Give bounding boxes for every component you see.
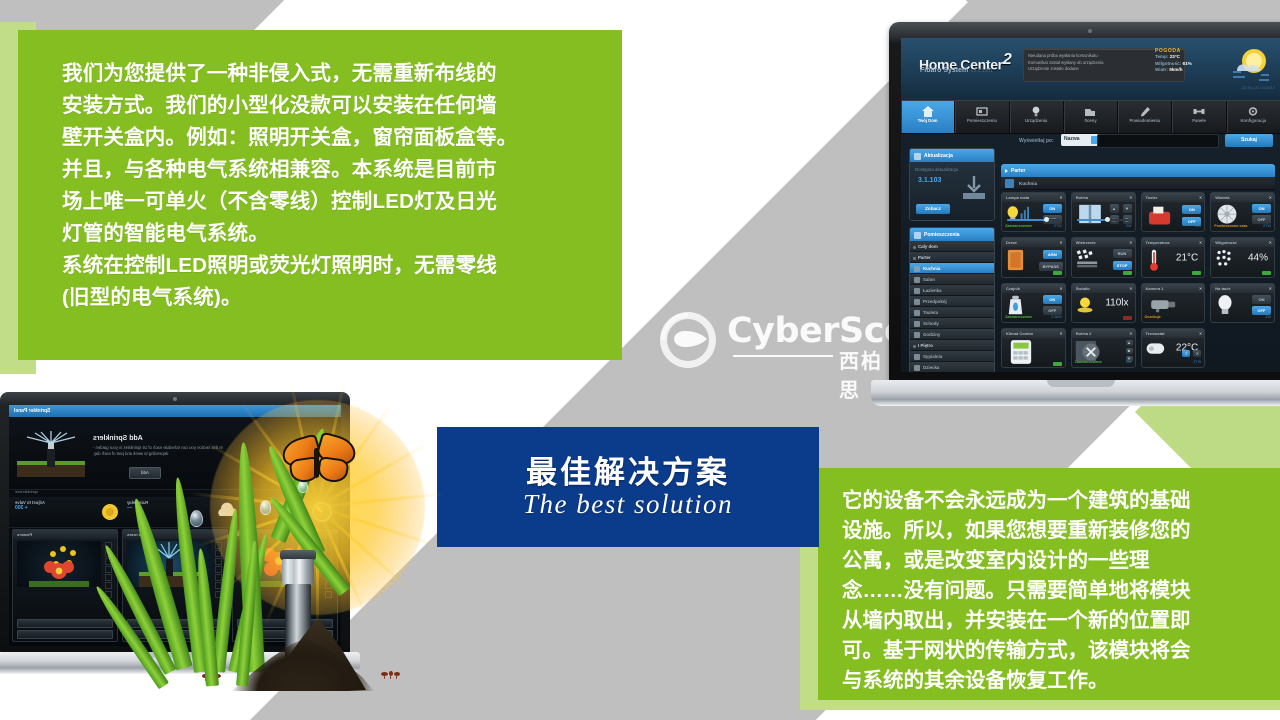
device-name: Drzwi — [1006, 240, 1017, 245]
device-tile[interactable]: Roleta 2✕ ▲ ■ ▼ ZaawansowaneZW — [1071, 328, 1136, 368]
battery-icon — [1192, 271, 1201, 275]
device-tile[interactable]: Wilgotność✕ 44% — [1210, 237, 1275, 277]
device-title: Wiatrak✕ — [1211, 193, 1274, 202]
hc-room-item[interactable]: I Piętro — [910, 340, 994, 351]
hc-section-bar[interactable]: Parter — [1001, 164, 1275, 177]
bullet-icon — [913, 246, 916, 249]
device-name: Wiatrak — [1215, 195, 1229, 200]
left-callout-line: (旧型的电气系统)。 — [62, 282, 590, 314]
sprinkler-card[interactable]: Flowers — [12, 529, 118, 642]
hc-nav-item-scenes[interactable]: Sceny — [1064, 101, 1118, 133]
hc-weather-value: 61% — [1183, 61, 1192, 66]
hc-weather-panel: POGODA Temp: 23°C Wilgotność: 61% Wiatr:… — [1155, 48, 1217, 74]
device-status: Zaawansowane — [1075, 360, 1102, 364]
device-body — [1002, 338, 1065, 359]
laptop-lid: Home Center2 Fibaro System v3.1.1001 Nie… — [889, 22, 1280, 382]
device-slider[interactable] — [1077, 217, 1130, 221]
hc-logo-sup: 2 — [1003, 51, 1012, 68]
hc-room-item[interactable]: Cały dom — [910, 241, 994, 252]
butterfly — [278, 432, 356, 492]
kitchen-icon — [914, 266, 920, 272]
device-tile[interactable]: Wietrzenie✕ RUN STOP — [1071, 237, 1136, 277]
control-value: + 300 — [15, 505, 99, 511]
ant — [378, 670, 400, 679]
laptop-home-center: Home Center2 Fibaro System v3.1.1001 Nie… — [871, 22, 1280, 422]
device-run-button[interactable]: RUN — [1113, 249, 1132, 258]
blind-up-button[interactable]: ▲ — [1126, 340, 1133, 346]
right-callout-line: 它的设备不会永远成为一个建筑的基础 — [842, 486, 1262, 516]
close-icon[interactable]: ✕ — [1059, 286, 1062, 291]
device-title: Wietrzenie✕ — [1072, 238, 1135, 247]
hc-filter-select[interactable]: Nazwa — [1061, 134, 1101, 146]
hc-room-item[interactable]: Schody — [910, 318, 994, 329]
right-text-callout: 它的设备不会永远成为一个建筑的基础 设施。所以，如果您想要重新装修您的 公寓，或… — [818, 468, 1280, 700]
hc-search-button[interactable]: Szukaj — [1225, 134, 1273, 147]
device-tile[interactable]: Kamera 1✕ Oczekuje — [1141, 283, 1206, 323]
device-title: Temperatura✕ — [1142, 238, 1205, 247]
hc-room-label: Godziny — [923, 332, 940, 337]
device-meta: ZTW — [1193, 360, 1201, 364]
blind-down-button[interactable]: ▼ — [1123, 204, 1132, 213]
device-status: Oczekuje — [1145, 315, 1161, 319]
device-title: Klimat Combo✕ — [1002, 329, 1065, 338]
hc-room-item-active[interactable]: Kuchnia — [910, 263, 994, 274]
watermark-rule — [733, 355, 833, 357]
sprinkler-control-valve[interactable]: Adjust to Valve + 300 — [15, 500, 99, 524]
download-icon — [959, 174, 989, 202]
device-footer: ZW — [1211, 314, 1274, 322]
hc-section-sub[interactable]: Kuchnia — [1001, 177, 1275, 190]
device-name: Na tacie — [1215, 286, 1230, 291]
hc-room-label: Cały dom — [918, 244, 938, 249]
close-icon[interactable]: ✕ — [1129, 286, 1132, 291]
device-name: Wietrzenie — [1076, 240, 1096, 245]
close-icon[interactable]: ✕ — [1059, 240, 1062, 245]
clock-icon — [914, 332, 920, 338]
dew-drop — [260, 500, 271, 515]
hc-weather-row: Wilgotność: 61% — [1155, 61, 1217, 68]
device-title: Na tacie✕ — [1211, 284, 1274, 293]
device-meta: ZTW — [1263, 224, 1271, 228]
device-slider[interactable] — [1007, 217, 1060, 221]
close-icon[interactable]: ✕ — [1129, 331, 1132, 336]
right-callout-line: 设施。所以，如果您想要重新装修您的 — [842, 516, 1262, 546]
hc-room-item[interactable]: Łazienka — [910, 285, 994, 296]
sprinkler-card-image — [17, 541, 101, 587]
right-callout-line: 可。基于网状的传输方式，该模块将会 — [842, 636, 1262, 666]
device-name: Roleta — [1076, 195, 1088, 200]
device-meta: ZTW — [1054, 224, 1062, 228]
camera-icon — [1149, 297, 1179, 313]
device-body: 21°C — [1142, 247, 1205, 268]
device-footer — [1072, 314, 1135, 322]
hc-nav-item-home[interactable]: Twój Dom — [901, 101, 955, 133]
hc-room-item[interactable]: Przedpokój — [910, 296, 994, 307]
vent-icon — [1075, 249, 1101, 269]
right-callout-line: 公寓，或是改变室内设计的一些理 — [842, 546, 1262, 576]
device-body: ARM BYPASS — [1002, 247, 1065, 268]
close-icon[interactable]: ✕ — [1059, 331, 1062, 336]
device-footer: ZaawansowaneZW — [1072, 359, 1135, 367]
device-value: 21°C — [1176, 252, 1198, 263]
hc-nav-item-notifications[interactable]: Powiadomienia — [1118, 101, 1172, 133]
hc-update-body: Dostępna aktualizacja 3.1.103 Zobacz — [910, 162, 994, 220]
hc-header: Home Center2 Fibaro System v3.1.1001 Nie… — [901, 38, 1280, 100]
device-status: Zaawansowane — [1005, 315, 1032, 319]
device-tile[interactable]: Lampa mała✕ ON OFF ZaawansowaneZTW — [1001, 192, 1066, 232]
hc-filter-label: Wyświetlaj po: — [1019, 138, 1054, 144]
device-title: Roleta 2✕ — [1072, 329, 1135, 338]
hc-update-panel: Aktualizacja Dostępna aktualizacja 3.1.1… — [909, 148, 995, 221]
device-tile[interactable]: Termostat✕ 22°C ≡ ✕ ZTW — [1141, 328, 1206, 368]
device-footer: ZW — [1072, 223, 1135, 231]
device-footer: ZTW — [1142, 359, 1205, 367]
hc-room-label: Łazienka — [923, 288, 942, 293]
blind-up-button[interactable]: ▲ — [1110, 204, 1119, 213]
battery-icon — [1123, 316, 1132, 320]
device-tile[interactable]: Na tacie✕ ON OFF ZW — [1210, 283, 1275, 323]
close-icon[interactable]: ✕ — [1059, 195, 1062, 200]
hc-subtitle: Fibaro System — [920, 67, 968, 74]
close-icon[interactable]: ✕ — [1199, 240, 1202, 245]
close-icon[interactable]: ✕ — [1269, 195, 1272, 200]
device-body: 22°C ≡ ✕ — [1142, 338, 1205, 359]
device-title: Czajnik✕ — [1002, 284, 1065, 293]
device-meta: 2.5kW — [1051, 315, 1061, 319]
device-on-button[interactable]: ON — [1182, 205, 1201, 214]
hc-weather-row: Wiatr: 9km/h — [1155, 67, 1217, 74]
device-name: Klimat Combo — [1006, 331, 1033, 336]
butterfly-wing — [316, 456, 349, 484]
battery-icon — [1053, 362, 1062, 366]
device-footer: Zaawansowane2.5kW — [1002, 314, 1065, 322]
close-icon[interactable]: ✕ — [1199, 286, 1202, 291]
device-body: ▲ ▼ ▤ ▥ — [1072, 202, 1135, 223]
close-icon[interactable]: ✕ — [1129, 195, 1132, 200]
device-meta: ZW — [1265, 315, 1271, 319]
device-on-button[interactable]: ON — [1252, 295, 1271, 304]
hc-filter-value: Nazwa — [1064, 136, 1080, 142]
panels-icon — [1192, 105, 1206, 118]
bullet-icon — [913, 257, 916, 260]
device-status: Zaawansowane — [1005, 224, 1032, 228]
device-title: Światło✕ — [1072, 284, 1135, 293]
toilet-icon — [914, 310, 920, 316]
hc-version: v3.1.1001 — [971, 68, 993, 74]
garden-artwork — [150, 380, 480, 710]
bulb-icon — [1029, 105, 1043, 118]
hc-nav-label: Twój Dom — [901, 118, 954, 123]
hc-update-button[interactable]: Zobacz — [916, 204, 950, 214]
hc-nav-item-rooms[interactable]: Pomieszczenia — [955, 101, 1009, 133]
close-icon[interactable]: ✕ — [1269, 240, 1272, 245]
device-footer: ZW — [1142, 223, 1205, 231]
device-tile[interactable]: Czajnik✕ ON OFF Zaawansowane2.5kW — [1001, 283, 1066, 323]
left-callout-line: 我们为您提供了一种非侵入式，无需重新布线的 — [62, 58, 590, 90]
hc-weather-value: 9km/h — [1169, 67, 1182, 72]
device-arm-button[interactable]: ARM — [1043, 250, 1062, 259]
hc-nav-item-devices[interactable]: Urządzenia — [1010, 101, 1064, 133]
right-callout-line: 念……没有问题。只需要简单地将模块 — [842, 576, 1262, 606]
device-value: 44% — [1248, 252, 1268, 263]
device-name: Wilgotność — [1215, 240, 1237, 245]
bullet-icon — [913, 345, 916, 348]
battery-icon — [1123, 271, 1132, 275]
hc-room-label: Salon — [923, 277, 935, 282]
device-name: Toster — [1146, 195, 1158, 200]
hc-weather-label: Wilgotność: — [1155, 61, 1181, 66]
page-title: 最佳解决方案 — [437, 447, 819, 492]
hc-room-label: Parter — [918, 255, 931, 260]
scene-icon — [1083, 105, 1097, 118]
device-name: Temperatura — [1146, 240, 1170, 245]
sun-cloud-icon — [1227, 44, 1273, 86]
left-callout-line: 并且，与各种电气系统相兼容。本系统是目前市 — [62, 154, 590, 186]
hc-rooms-title: Pomieszczenia — [910, 228, 994, 241]
thermostat-mode-button[interactable]: ≡ — [1182, 350, 1190, 357]
hc-weather-row: Temp: 23°C — [1155, 54, 1217, 61]
hc-weather-label: Wiatr: — [1155, 67, 1168, 72]
hc-nav-label: Urządzenia — [1010, 118, 1063, 123]
device-body: ▲ ■ ▼ — [1072, 338, 1135, 359]
device-on-button[interactable]: ON — [1043, 295, 1062, 304]
device-title: Lampa mała✕ — [1002, 193, 1065, 202]
device-footer: Oczekuje — [1142, 314, 1205, 322]
device-tile[interactable]: Klimat Combo✕ — [1001, 328, 1066, 368]
device-title: Toster✕ — [1142, 193, 1205, 202]
device-title: Drzwi✕ — [1002, 238, 1065, 247]
hc-room-label: Kuchnia — [923, 266, 940, 271]
left-callout-line: 场上唯一可单火（不含零线）控制LED灯及日光 — [62, 186, 590, 218]
hc-room-label: Toaleta — [923, 310, 938, 315]
device-footer — [1002, 269, 1065, 277]
hc-room-label: Przedpokój — [923, 299, 947, 304]
device-tile[interactable]: Temperatura✕ 21°C — [1141, 237, 1206, 277]
device-tile[interactable]: Toster✕ ON OFF ZW — [1141, 192, 1206, 232]
device-meta: ZW — [1196, 224, 1202, 228]
sprinkler-card-title: Flowers — [13, 530, 117, 539]
device-tile[interactable]: Roleta✕ ▲ ▼ ▤ ▥ ZW — [1071, 192, 1136, 232]
hc-nav-item-panels[interactable]: Panele — [1172, 101, 1226, 133]
laptop-notch — [1047, 380, 1115, 387]
hc-sidebar: Aktualizacja Dostępna aktualizacja 3.1.1… — [909, 148, 995, 368]
hc-device-grid: Lampa mała✕ ON OFF ZaawansowaneZTW — [1001, 192, 1275, 368]
battery-icon — [1262, 271, 1271, 275]
hc-weather-value: 23°C — [1170, 54, 1180, 59]
hc-room-label: Dziecka — [923, 365, 939, 370]
hc-update-text: Dostępna aktualizacja — [910, 162, 994, 172]
dew-drop — [190, 510, 203, 527]
humidity-icon — [1215, 249, 1233, 269]
right-callout-line: 从墙内取出，并安装在一个新的位置即 — [842, 606, 1262, 636]
sofa-icon — [914, 277, 920, 283]
hc-nav-label: Pomieszczenia — [955, 118, 1008, 123]
hc-nav-item-config[interactable]: Konfiguracja — [1227, 101, 1280, 133]
device-footer — [1211, 269, 1274, 277]
valve-icon — [101, 503, 119, 521]
bed-icon — [914, 354, 920, 360]
device-footer — [1142, 269, 1205, 277]
close-icon[interactable]: ✕ — [1199, 195, 1202, 200]
hall-icon — [914, 299, 920, 305]
hc-room-label: I Piętro — [918, 343, 933, 348]
device-name: Światło — [1076, 286, 1090, 291]
laptop-base — [871, 380, 1280, 406]
device-title: Wilgotność✕ — [1211, 238, 1274, 247]
left-callout-line: 系统在控制LED照明或荧光灯照明时，无需零线 — [62, 250, 590, 282]
device-footer: ZaawansowaneZTW — [1002, 223, 1065, 231]
hc-nav-label: Panele — [1172, 118, 1225, 123]
device-name: Kamera 1 — [1146, 286, 1164, 291]
laptop-screen: Home Center2 Fibaro System v3.1.1001 Nie… — [901, 38, 1280, 372]
thermostat-off-button[interactable]: ✕ — [1193, 350, 1201, 357]
device-body: ON OFF — [1211, 293, 1274, 314]
page-subtitle: The best solution — [437, 489, 819, 520]
device-value: 110lx — [1105, 298, 1128, 309]
hc-room-item[interactable]: Sypialnia — [910, 351, 994, 362]
hc-nav: Twój Dom Pomieszczenia Urządzenia S — [901, 100, 1280, 134]
hc-search-input[interactable] — [1097, 134, 1219, 148]
stairs-icon — [914, 321, 920, 327]
left-callout-line: 壁开关盒内。例如：照明开关盒，窗帘面板盒等。 — [62, 122, 590, 154]
sprinkler-illustration-icon — [17, 431, 85, 477]
sprinkler-card-rows — [17, 617, 113, 639]
device-title: Kamera 1✕ — [1142, 284, 1205, 293]
flower-icon — [17, 541, 101, 587]
watermark: CyberScope 西柏思 — [655, 305, 895, 375]
hc-device-area: Parter Kuchnia Lampa mała✕ ON OFF — [1001, 164, 1275, 368]
blind-stop-button[interactable]: ■ — [1126, 348, 1133, 354]
device-body: ON OFF — [1002, 202, 1065, 223]
device-footer — [1072, 269, 1135, 277]
sprinkler-schedule-row[interactable] — [17, 630, 113, 639]
hc-weather-timestamp: 22:36 | 22.03.2012 — [1242, 85, 1275, 90]
close-icon[interactable]: ✕ — [1199, 331, 1202, 336]
left-callout-line: 安装方式。我们的小型化没款可以安装在任何墙 — [62, 90, 590, 122]
pencil-icon — [1138, 105, 1152, 118]
close-icon[interactable]: ✕ — [1269, 286, 1272, 291]
device-body: 44% — [1211, 247, 1274, 268]
hc-nav-label: Konfiguracja — [1227, 118, 1280, 123]
device-name: Lampa mała — [1006, 195, 1029, 200]
hc-update-title: Aktualizacja — [910, 149, 994, 162]
rooms-icon — [975, 105, 989, 118]
device-on-button[interactable]: ON — [1252, 204, 1271, 213]
right-callout-text: 它的设备不会永远成为一个建筑的基础 设施。所以，如果您想要重新装修您的 公寓，或… — [842, 486, 1262, 696]
device-body: RUN STOP — [1072, 247, 1135, 268]
bath-icon — [914, 288, 920, 294]
hc-rooms-panel: Pomieszczenia Cały dom Parter Kuchnia Sa… — [909, 227, 995, 372]
device-body: 110lx — [1072, 293, 1135, 314]
device-footer: Przekroczono czasZTW — [1211, 223, 1274, 231]
device-meta: ZW — [1126, 360, 1132, 364]
device-tile[interactable]: Drzwi✕ ARM BYPASS — [1001, 237, 1066, 277]
home-center-app: Home Center2 Fibaro System v3.1.1001 Nie… — [901, 38, 1280, 372]
device-name: Termostat — [1146, 331, 1165, 336]
left-callout-text: 我们为您提供了一种非侵入式，无需重新布线的 安装方式。我们的小型化没款可以安装在… — [62, 58, 590, 314]
hc-room-label: Sypialnia — [923, 354, 942, 359]
device-tile[interactable]: Wiatrak✕ ON OFF Przekroczono czasZTW — [1210, 192, 1275, 232]
hc-room-item[interactable]: Godziny — [910, 329, 994, 340]
sprinkler-hero-title: Add Sprinklers — [93, 435, 143, 442]
device-title: Termostat✕ — [1142, 329, 1205, 338]
close-icon[interactable]: ✕ — [1129, 240, 1132, 245]
sprinkler-schedule-row[interactable] — [17, 619, 113, 628]
device-body: ON OFF — [1002, 293, 1065, 314]
webcam-icon — [1088, 29, 1092, 33]
sprinkler-neck — [282, 559, 314, 585]
butterfly-body — [314, 448, 319, 478]
bulb-icon — [1216, 294, 1234, 316]
device-title: Roleta✕ — [1072, 193, 1135, 202]
title-callout: 最佳解决方案 The best solution — [437, 427, 819, 547]
gear-icon — [1246, 105, 1260, 118]
device-body: ON OFF — [1142, 202, 1205, 223]
device-name: Roleta 2 — [1076, 331, 1092, 336]
left-text-callout: 我们为您提供了一种非侵入式，无需重新布线的 安装方式。我们的小型化没款可以安装在… — [18, 30, 622, 360]
child-icon — [914, 365, 920, 371]
battery-icon — [1053, 271, 1062, 275]
slide-canvas: 我们为您提供了一种非侵入式，无需重新布线的 安装方式。我们的小型化没款可以安装在… — [0, 0, 1280, 720]
device-body — [1142, 293, 1205, 314]
cyberscope-logo-icon — [655, 309, 721, 371]
device-on-button[interactable]: ON — [1043, 204, 1062, 213]
sprinkler-panel-title: Sprinkler Panel — [14, 408, 50, 414]
hc-weather-label: Temp: — [1155, 54, 1168, 59]
hc-room-item[interactable]: Salon — [910, 274, 994, 285]
hc-nav-label: Powiadomienia — [1118, 118, 1171, 123]
sprinkler-tag: sprinkler.tree — [15, 489, 38, 494]
device-body: ON OFF — [1211, 202, 1274, 223]
hc-room-item[interactable]: Dziecka — [910, 362, 994, 372]
device-footer — [1002, 359, 1065, 367]
thermostat-icon — [1145, 341, 1169, 357]
device-name: Czajnik — [1006, 286, 1020, 291]
lightsensor-icon — [1075, 295, 1095, 315]
left-callout-line: 灯管的智能电气系统。 — [62, 218, 590, 250]
hc-room-label: Schody — [923, 321, 939, 326]
home-icon — [921, 105, 935, 118]
device-status: Przekroczono czas — [1214, 224, 1247, 228]
hc-room-item[interactable]: Toaleta — [910, 307, 994, 318]
device-tile[interactable]: Światło✕ 110lx — [1071, 283, 1136, 323]
hc-nav-label: Sceny — [1064, 118, 1117, 123]
right-callout-line: 与系统的其余设备恢复工作。 — [842, 666, 1262, 696]
hc-room-item[interactable]: Parter — [910, 252, 994, 263]
device-meta: ZW — [1126, 224, 1132, 228]
kettle-icon — [1006, 294, 1025, 316]
